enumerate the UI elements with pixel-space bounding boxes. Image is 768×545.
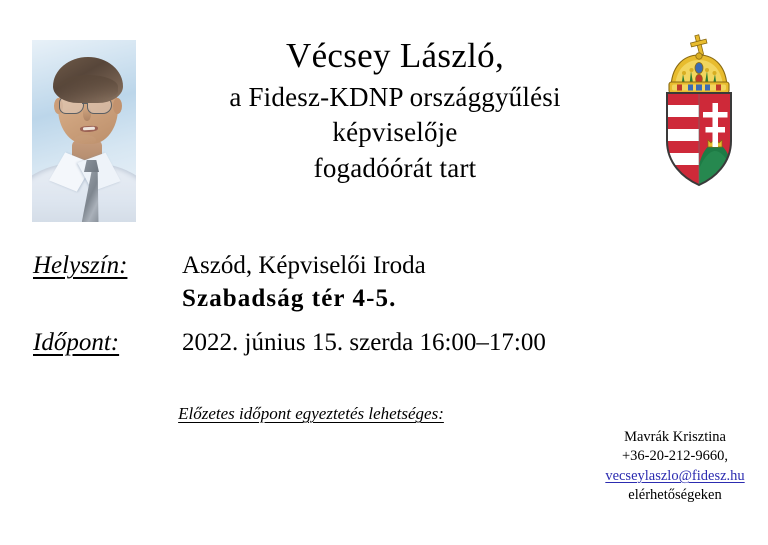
contact-phone: +36-20-212-9660, <box>586 447 764 466</box>
detail-value-datetime: 2022. június 15. szerda 16:00–17:00 <box>182 329 653 357</box>
heading-line-name: Vécsey László, <box>150 36 640 77</box>
contact-suffix: elérhetőségeken <box>586 486 764 505</box>
holy-crown-icon <box>669 33 729 101</box>
contact-name: Mavrák Krisztina <box>586 428 764 447</box>
notice-page: Vécsey László, a Fidesz-KDNP országgyűlé… <box>0 0 768 545</box>
appointment-note: Előzetes időpont egyeztetés lehetséges: <box>0 404 768 424</box>
detail-label-datetime: Időpont: <box>33 329 182 357</box>
contact-email-link[interactable]: vecseylaszlo@fidesz.hu <box>586 467 764 486</box>
heading-line-party: a Fidesz-KDNP országgyűlési <box>150 82 640 114</box>
detail-row-location: Helyszín: Aszód, Képviselői Iroda Szabad… <box>33 252 653 313</box>
photo-ear-right <box>113 98 122 114</box>
heading-line-action: fogadóórát tart <box>150 153 640 185</box>
datetime-line: 2022. június 15. szerda 16:00–17:00 <box>182 329 653 357</box>
detail-row-datetime: Időpont: 2022. június 15. szerda 16:00–1… <box>33 329 653 357</box>
photo-chin <box>74 135 96 145</box>
notice-heading: Vécsey László, a Fidesz-KDNP országgyűlé… <box>150 36 640 185</box>
detail-value-location: Aszód, Képviselői Iroda Szabadság tér 4-… <box>182 252 653 313</box>
shield-icon <box>667 93 731 185</box>
details-list: Helyszín: Aszód, Képviselői Iroda Szabad… <box>33 252 653 357</box>
portrait-photo <box>32 40 136 222</box>
appointment-note-text: Előzetes időpont egyeztetés lehetséges: <box>174 404 444 424</box>
location-street-line: Szabadság tér 4-5. <box>182 285 653 313</box>
hungarian-coat-of-arms-icon <box>653 33 745 189</box>
location-address-line: Aszód, Képviselői Iroda <box>182 252 653 280</box>
heading-line-role: képviselője <box>150 117 640 149</box>
contact-block: Mavrák Krisztina +36-20-212-9660, vecsey… <box>586 428 764 505</box>
detail-label-location: Helyszín: <box>33 252 182 280</box>
